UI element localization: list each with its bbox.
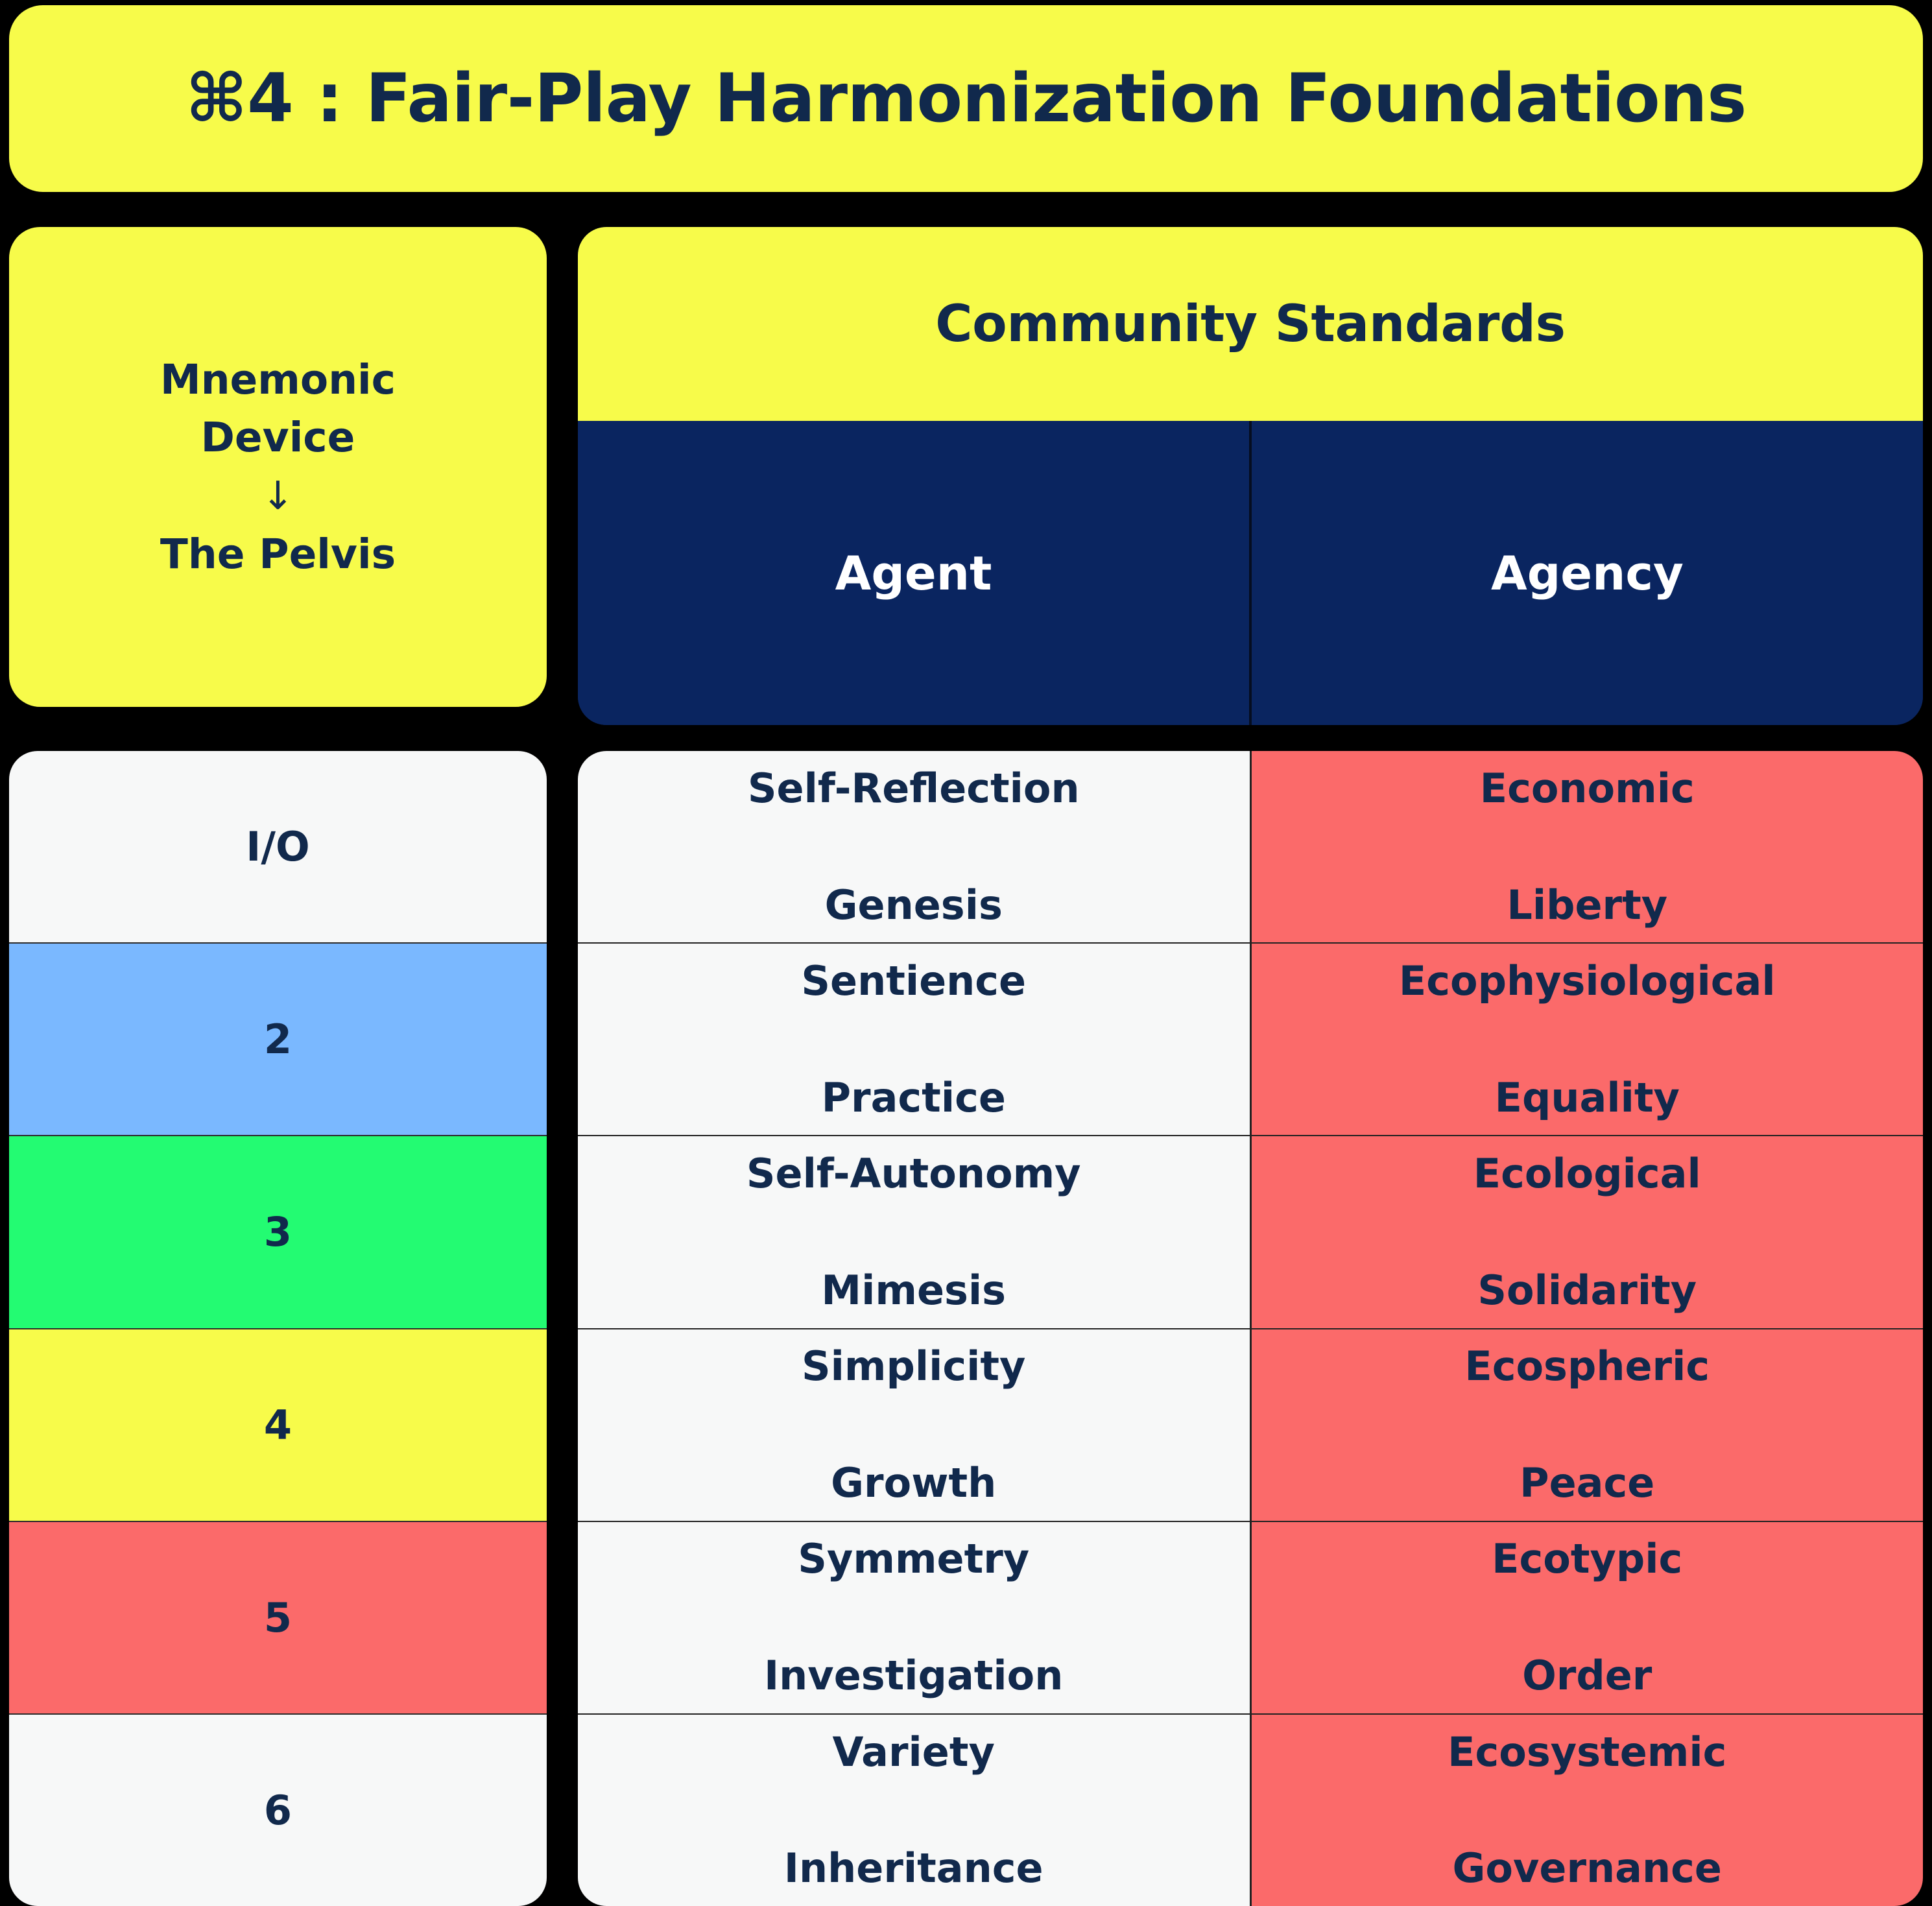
row-label-text: 3 bbox=[264, 1208, 292, 1256]
agent-cell-text: VarietyInheritance bbox=[784, 1723, 1044, 1898]
row-label-cell: 5 bbox=[9, 1522, 547, 1715]
agency-cell-text: EcosphericPeace bbox=[1464, 1337, 1710, 1512]
agent-cell: Self-AutonomyMimesis bbox=[578, 1136, 1252, 1328]
community-standards-title-bar: Community Standards bbox=[578, 227, 1923, 421]
header-row: Mnemonic Device ↓ The Pelvis Community S… bbox=[0, 227, 1932, 725]
community-standards-panel: Community Standards Agent Agency bbox=[578, 227, 1923, 725]
mnemonic-device-card: Mnemonic Device ↓ The Pelvis bbox=[9, 227, 547, 707]
table-row: Self-AutonomyMimesis EcologicalSolidarit… bbox=[578, 1136, 1923, 1329]
column-header-agent-label: Agent bbox=[835, 546, 992, 601]
agency-cell: EconomicLiberty bbox=[1252, 751, 1924, 942]
row-label-cell: 2 bbox=[9, 944, 547, 1136]
column-header-agent: Agent bbox=[578, 421, 1252, 725]
agency-cell-text: EconomicLiberty bbox=[1480, 759, 1695, 935]
agency-cell: EcosystemicGovernance bbox=[1252, 1715, 1924, 1906]
table-row: Self-ReflectionGenesis EconomicLiberty bbox=[578, 751, 1923, 944]
table-row: SentiencePractice EcophysiologicalEquali… bbox=[578, 944, 1923, 1136]
agency-cell: EcologicalSolidarity bbox=[1252, 1136, 1924, 1328]
agent-cell: VarietyInheritance bbox=[578, 1715, 1252, 1906]
agency-cell-text: EcophysiologicalEquality bbox=[1399, 952, 1776, 1127]
agent-cell: Self-ReflectionGenesis bbox=[578, 751, 1252, 942]
row-label-cell: 3 bbox=[9, 1136, 547, 1329]
column-header-agency: Agency bbox=[1252, 421, 1923, 725]
row-label-text: 6 bbox=[264, 1787, 292, 1834]
column-headers: Agent Agency bbox=[578, 421, 1923, 725]
row-label-text: 4 bbox=[264, 1401, 292, 1449]
row-label-column: I/O 2 3 4 5 6 bbox=[9, 751, 547, 1906]
agent-cell: SimplicityGrowth bbox=[578, 1329, 1252, 1521]
agent-cell-text: SimplicityGrowth bbox=[802, 1337, 1025, 1512]
agency-cell: EcophysiologicalEquality bbox=[1252, 944, 1924, 1135]
row-label-cell: 6 bbox=[9, 1715, 547, 1906]
agent-cell: SymmetryInvestigation bbox=[578, 1522, 1252, 1713]
down-arrow-icon: ↓ bbox=[261, 467, 294, 525]
row-label-cell: I/O bbox=[9, 751, 547, 944]
agency-cell-text: EcotypicOrder bbox=[1492, 1530, 1682, 1705]
table-body: I/O 2 3 4 5 6 Self-ReflectionGenesis bbox=[0, 751, 1932, 1906]
table-row: SimplicityGrowth EcosphericPeace bbox=[578, 1329, 1923, 1522]
community-standards-title: Community Standards bbox=[935, 295, 1566, 353]
agent-cell-text: SymmetryInvestigation bbox=[764, 1530, 1063, 1705]
row-label-text: 5 bbox=[264, 1594, 292, 1641]
agent-cell-text: SentiencePractice bbox=[801, 952, 1026, 1127]
table-row: VarietyInheritance EcosystemicGovernance bbox=[578, 1715, 1923, 1906]
mnemonic-value: The Pelvis bbox=[160, 525, 396, 583]
agency-cell: EcotypicOrder bbox=[1252, 1522, 1924, 1713]
page-title-card: ⌘4 : Fair-Play Harmonization Foundations bbox=[9, 5, 1923, 192]
row-label-text: 2 bbox=[264, 1016, 292, 1063]
agency-cell-text: EcosystemicGovernance bbox=[1448, 1723, 1726, 1898]
page-title: ⌘4 : Fair-Play Harmonization Foundations bbox=[185, 64, 1747, 134]
data-columns: Self-ReflectionGenesis EconomicLiberty S… bbox=[578, 751, 1923, 1906]
agent-cell-text: Self-ReflectionGenesis bbox=[748, 759, 1080, 935]
agent-cell: SentiencePractice bbox=[578, 944, 1252, 1135]
row-label-cell: 4 bbox=[9, 1329, 547, 1522]
table-row: SymmetryInvestigation EcotypicOrder bbox=[578, 1522, 1923, 1715]
column-header-agency-label: Agency bbox=[1491, 546, 1684, 601]
infographic-table: ⌘4 : Fair-Play Harmonization Foundations… bbox=[0, 0, 1932, 1906]
agency-cell-text: EcologicalSolidarity bbox=[1473, 1145, 1701, 1320]
mnemonic-label-line1: Mnemonic bbox=[160, 351, 396, 409]
agency-cell: EcosphericPeace bbox=[1252, 1329, 1924, 1521]
mnemonic-label-line2: Device bbox=[201, 409, 355, 466]
agent-cell-text: Self-AutonomyMimesis bbox=[746, 1145, 1081, 1320]
row-label-text: I/O bbox=[246, 823, 309, 870]
